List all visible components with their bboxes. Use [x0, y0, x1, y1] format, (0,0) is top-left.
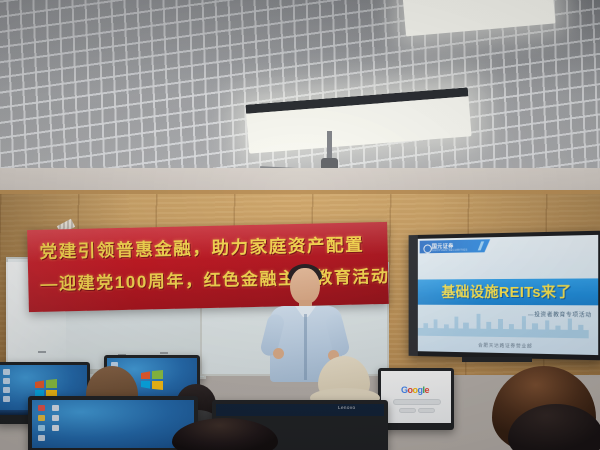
screen-google: Google	[381, 371, 451, 423]
display-glare	[418, 235, 598, 355]
presenter-hand-left	[273, 348, 284, 359]
presenter-head	[290, 268, 320, 304]
google-logo: Google	[401, 385, 429, 395]
display-bezel	[409, 235, 418, 356]
photo-scene: 党建引领普惠金融，助力家庭资产配置 —迎建党100周年，红色金融主题教育活动 国…	[0, 0, 600, 450]
whiteboard-mark	[38, 351, 46, 353]
presentation-display[interactable]: 国元证券 GUOYUAN SECURITIES 基础设施REITs来了 —投资者…	[409, 231, 600, 361]
monitor-right-back[interactable]: Google	[378, 368, 454, 430]
ceiling-shading	[0, 0, 600, 190]
windows-logo-icon	[141, 370, 163, 390]
screen-center-front	[216, 404, 384, 416]
monitor-brand-label: Lenovo	[338, 405, 355, 410]
presenter-shirt-placket	[304, 314, 307, 380]
grid-ceiling	[0, 0, 600, 190]
whiteboard-mark	[160, 352, 168, 354]
google-search-button[interactable]	[399, 408, 416, 413]
wall-trim	[0, 190, 600, 194]
google-lucky-button[interactable]	[418, 408, 435, 413]
google-search-input[interactable]	[393, 399, 441, 405]
screen-left-front	[32, 400, 194, 448]
display-stand	[462, 357, 532, 362]
